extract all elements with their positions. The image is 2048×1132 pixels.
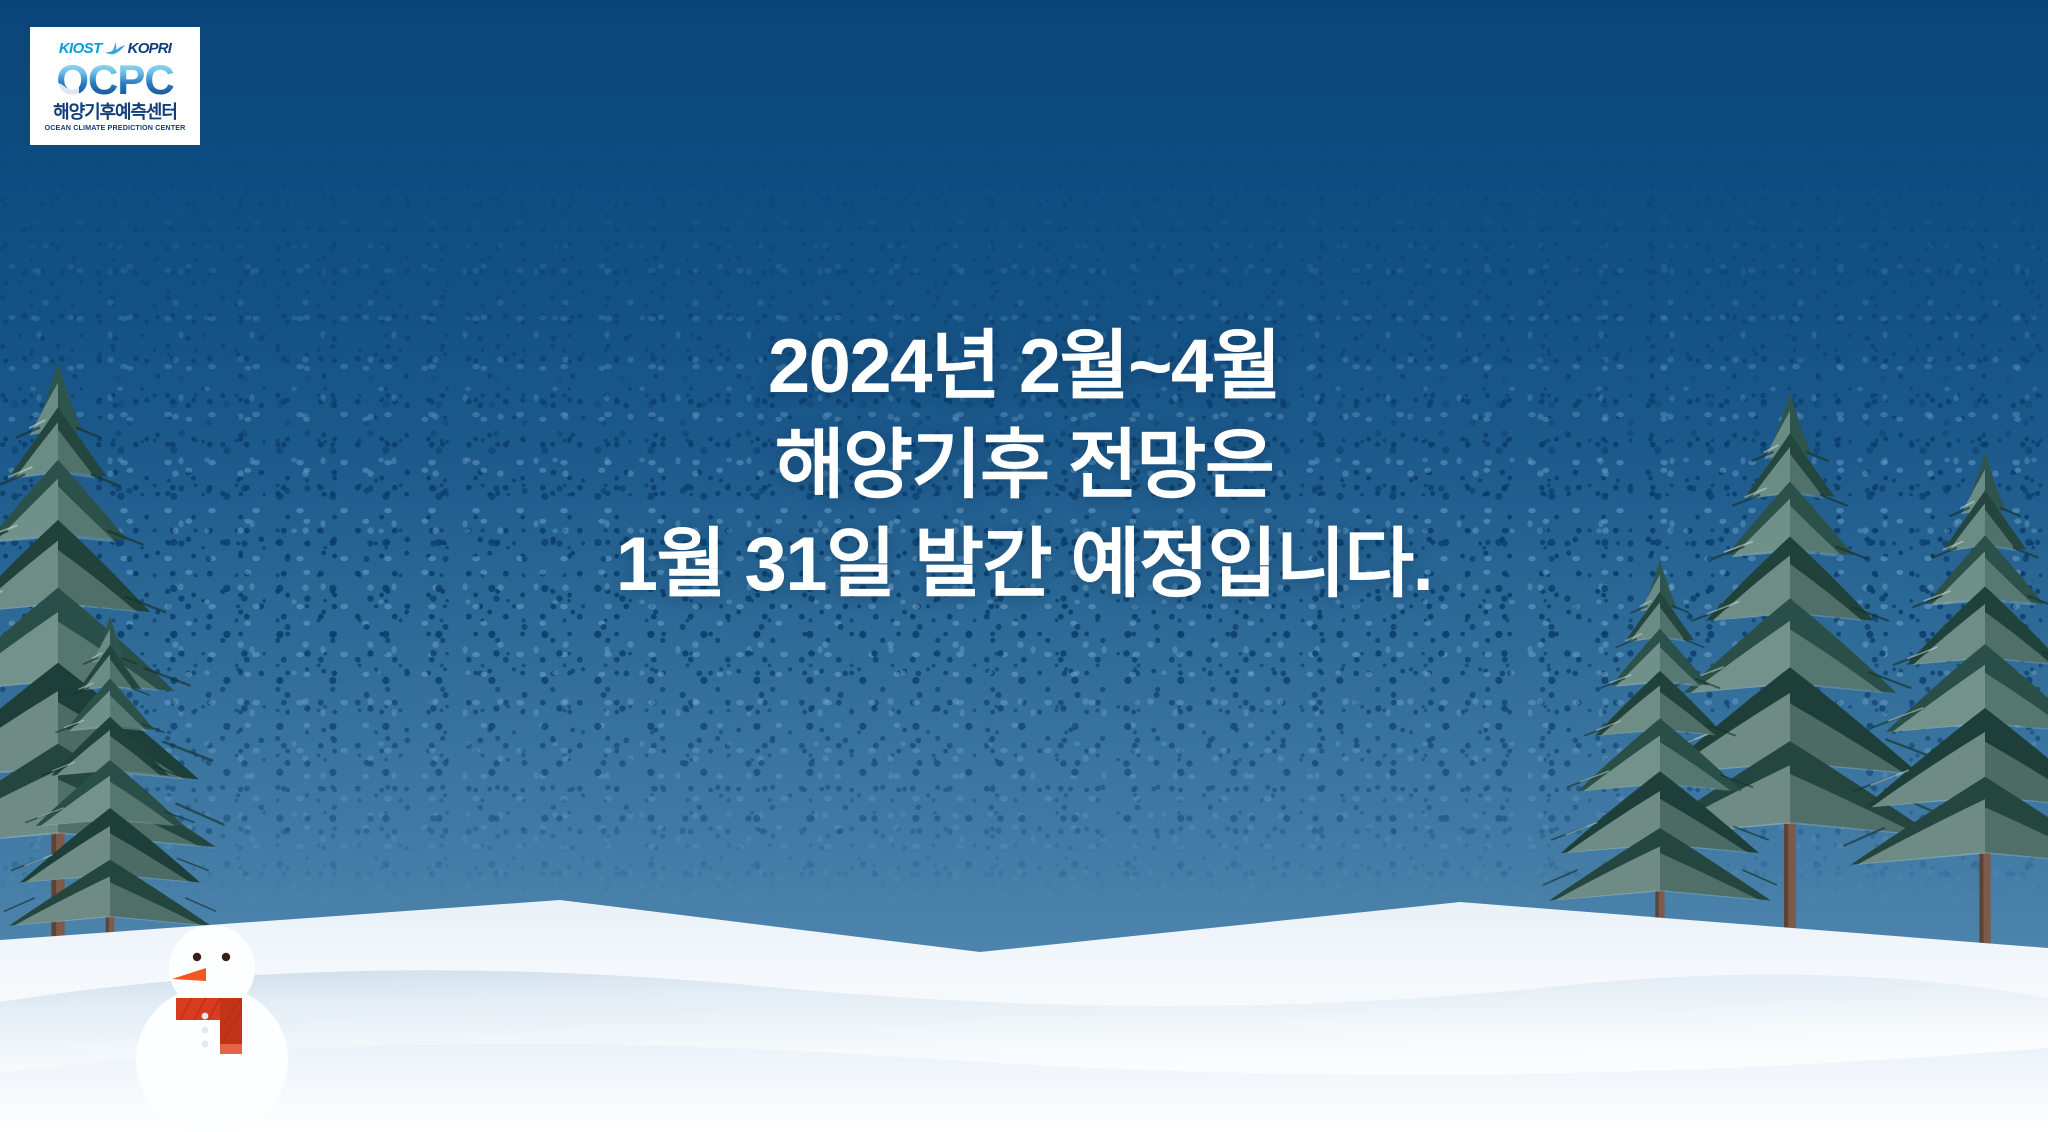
headline-block: 2024년 2월~4월 해양기후 전망은 1월 31일 발간 예정입니다. xyxy=(0,318,2048,614)
ocpc-wordmark-icon: OCPC xyxy=(37,58,193,102)
headline-line-3: 1월 31일 발간 예정입니다. xyxy=(0,516,2048,615)
headline-line-2: 해양기후 전망은 xyxy=(0,417,2048,516)
kopri-label: KOPRI xyxy=(128,41,172,56)
snowman-eye-left xyxy=(193,953,201,961)
snowman-scarf-tail xyxy=(220,998,242,1050)
logo-english-name: OCEAN CLIMATE PREDICTION CENTER xyxy=(45,124,186,131)
ocpc-logo[interactable]: KIOST KOPRI OCPC 해양기후예측센터 OCEAN CLIMATE … xyxy=(30,27,200,145)
snowman-eye-right xyxy=(222,953,230,961)
logo-korean-name: 해양기후예측센터 xyxy=(53,103,177,122)
headline-line-1: 2024년 2월~4월 xyxy=(0,318,2048,417)
snowman-button-3 xyxy=(202,1041,209,1048)
snowman-scarf-fringe xyxy=(220,1044,242,1054)
bird-wave-mark-icon xyxy=(104,41,126,57)
poster-canvas: KIOST KOPRI OCPC 해양기후예측센터 OCEAN CLIMATE … xyxy=(0,0,2048,1132)
snowman-button-2 xyxy=(202,1027,209,1034)
snowman-button-1 xyxy=(202,1013,209,1020)
logo-partners: KIOST KOPRI xyxy=(36,40,194,57)
kiost-label: KIOST xyxy=(59,41,102,56)
